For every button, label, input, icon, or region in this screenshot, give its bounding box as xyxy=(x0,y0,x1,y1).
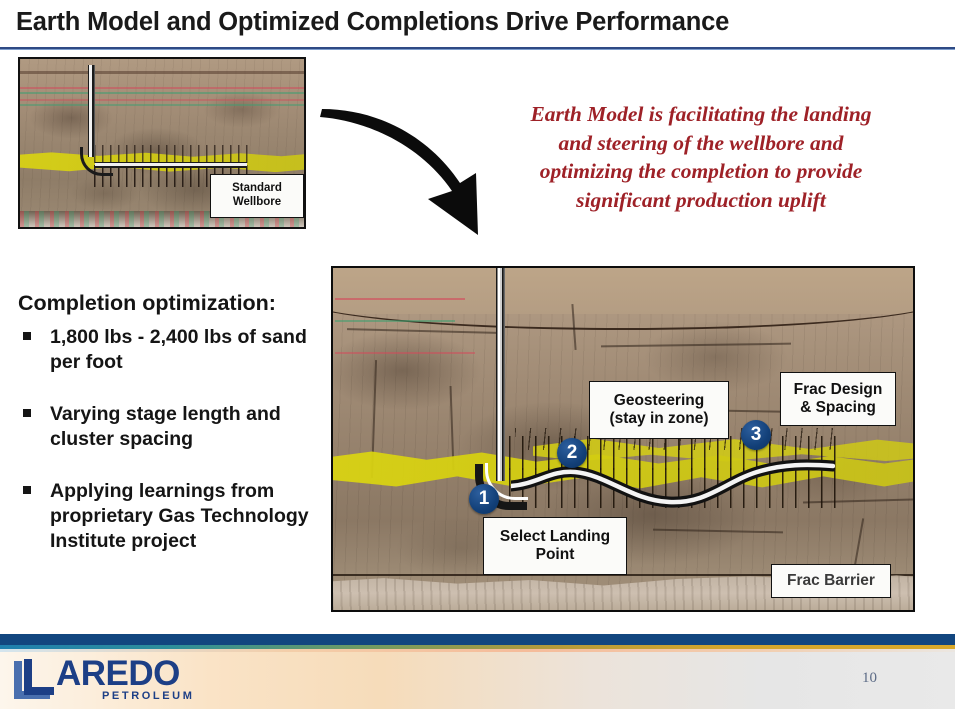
standard-wellbore-label: Standard Wellbore xyxy=(210,174,304,218)
vertical-wellbore xyxy=(496,266,505,481)
callout-frac-design: Frac Design & Spacing xyxy=(780,372,896,426)
list-item: Varying stage length and cluster spacing xyxy=(18,402,333,452)
callout-badge-2[interactable]: 2 xyxy=(557,438,587,468)
callout-select-landing-point: Select Landing Point xyxy=(483,517,627,575)
list-item-label: Varying stage length and cluster spacing xyxy=(50,403,281,450)
callout-line-4: significant production uplift xyxy=(462,186,940,215)
strata-line xyxy=(20,71,304,74)
strata-line xyxy=(20,99,304,101)
callout-geosteering-line2: (stay in zone) xyxy=(609,410,708,427)
standard-wellbore-label-line1: Standard xyxy=(232,182,282,194)
callout-badge-1[interactable]: 1 xyxy=(469,484,499,514)
list-item-label: Applying learnings from proprietary Gas … xyxy=(50,480,309,552)
strata-marker xyxy=(335,320,455,322)
bullet-square-icon xyxy=(23,332,31,340)
laredo-petroleum-logo: AREDO PETROLEUM xyxy=(10,657,195,705)
logo-subtitle: PETROLEUM xyxy=(102,690,194,702)
bullet-square-icon xyxy=(23,486,31,494)
callout-line-1: Earth Model is facilitating the landing xyxy=(462,100,940,129)
earth-model-callout: Earth Model is facilitating the landing … xyxy=(462,100,940,214)
slide-canvas: Earth Model and Optimized Completions Dr… xyxy=(0,0,955,709)
strata-line xyxy=(20,87,304,89)
strata-line xyxy=(20,92,304,94)
page-number: 10 xyxy=(862,670,877,687)
callout-frac-line2: & Spacing xyxy=(800,399,876,416)
logo-wordmark: AREDO xyxy=(56,654,180,694)
callout-geosteering-line1: Geosteering xyxy=(614,392,704,409)
footer-navy-bar xyxy=(0,634,955,645)
list-item: 1,800 lbs - 2,400 lbs of sand per foot xyxy=(18,325,333,375)
callout-frac-line1: Frac Design xyxy=(794,381,883,398)
list-item: Applying learnings from proprietary Gas … xyxy=(18,479,333,554)
callout-geosteering: Geosteering (stay in zone) xyxy=(589,381,729,439)
callout-landing-line1: Select Landing xyxy=(500,528,610,545)
bullet-square-icon xyxy=(23,409,31,417)
callout-line-3: optimizing the completion to provide xyxy=(462,157,940,186)
standard-wellbore-image: Standard Wellbore xyxy=(18,57,306,229)
callout-badge-3[interactable]: 3 xyxy=(741,420,771,450)
callout-frac-barrier: Frac Barrier xyxy=(771,564,891,598)
vertical-wellbore xyxy=(88,65,95,157)
title-divider-secondary xyxy=(0,49,955,50)
page-title: Earth Model and Optimized Completions Dr… xyxy=(16,8,729,37)
list-item-label: 1,800 lbs - 2,400 lbs of sand per foot xyxy=(50,326,307,373)
strata-line xyxy=(20,104,304,106)
completion-optimization-list: 1,800 lbs - 2,400 lbs of sand per foot V… xyxy=(18,325,333,581)
earth-model-diagram: 1 2 3 Geosteering (stay in zone) Frac De… xyxy=(331,266,915,612)
lateral-wellbore xyxy=(511,454,835,514)
strata-marker xyxy=(335,352,475,354)
lateral-wellbore xyxy=(95,162,247,168)
logo-bracket-icon xyxy=(10,657,56,703)
callout-landing-line2: Point xyxy=(536,546,575,563)
completion-optimization-heading: Completion optimization: xyxy=(18,291,276,316)
strata-marker xyxy=(335,298,465,300)
callout-line-2: and steering of the wellbore and xyxy=(462,129,940,158)
fracture-sticks-upper xyxy=(94,145,250,163)
standard-wellbore-label-line2: Wellbore xyxy=(233,196,281,208)
